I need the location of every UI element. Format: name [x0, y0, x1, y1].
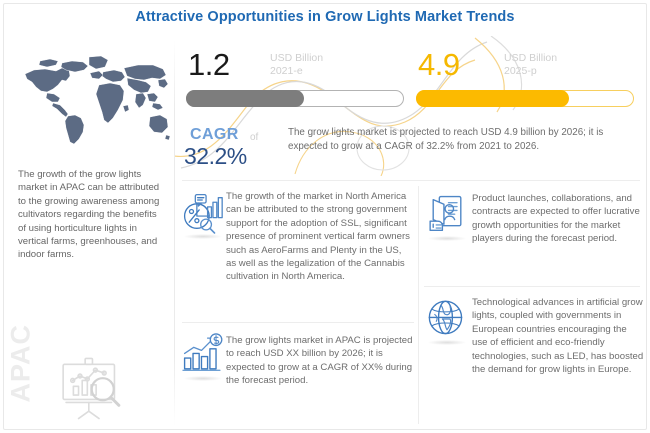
world-map-icon	[10, 48, 170, 152]
stat-progress-track	[416, 90, 634, 107]
divider-vertical-middle	[418, 186, 419, 424]
stat-unit-line1: USD Billion	[270, 52, 323, 65]
bar-chart-growth-dollar-icon	[180, 332, 226, 378]
stat-unit: USD Billion 2021-e	[270, 52, 323, 77]
stat-base-year: 1.2 USD Billion 2021-e	[182, 46, 408, 118]
stat-unit: USD Billion 2025-p	[504, 52, 557, 77]
presentation-chart-magnifier-icon	[54, 354, 128, 420]
stat-value: 4.9	[418, 48, 460, 82]
insight-text: Product launches, collaborations, and co…	[472, 192, 642, 246]
stat-progress-fill	[186, 90, 304, 107]
stat-progress-track	[186, 90, 404, 107]
insight-text: The grow lights market in APAC is projec…	[226, 334, 414, 388]
stat-unit-line1: USD Billion	[504, 52, 557, 65]
globe-europe-icon	[424, 296, 470, 342]
icon-shadow	[428, 340, 466, 345]
stat-forecast-year: 4.9 USD Billion 2025-p	[412, 46, 638, 118]
divider-horizontal-top	[182, 180, 640, 181]
divider-horizontal-right-mid	[424, 286, 640, 287]
cagr-block: CAGR of 32.2%	[182, 126, 294, 174]
insight-text: The growth of the market in North Americ…	[226, 190, 414, 284]
cagr-value: 32.2%	[184, 143, 247, 170]
stat-unit-line2: 2021-e	[270, 65, 323, 78]
contract-handshake-document-icon	[424, 192, 470, 238]
cagr-label: CAGR	[190, 126, 239, 144]
icon-shadow	[184, 234, 222, 239]
cagr-of-label: of	[250, 132, 258, 143]
stat-progress-fill	[416, 90, 569, 107]
infographic-canvas: Attractive Opportunities in Grow Lights …	[0, 0, 650, 433]
icon-shadow	[428, 236, 466, 241]
divider-horizontal-left-mid	[182, 322, 414, 323]
left-panel-body-text: The growth of the grow lights market in …	[18, 168, 166, 262]
icon-shadow	[184, 376, 222, 381]
apac-watermark: APAC	[6, 341, 37, 403]
stat-unit-line2: 2025-p	[504, 65, 557, 78]
left-panel: The growth of the grow lights market in …	[6, 36, 174, 428]
headline-summary-text: The grow lights market is projected to r…	[288, 126, 640, 154]
page-title: Attractive Opportunities in Grow Lights …	[0, 9, 650, 25]
insight-text: Technological advances in artificial gro…	[472, 296, 644, 376]
stat-value: 1.2	[188, 48, 230, 82]
left-divider	[174, 40, 175, 426]
pie-chart-percent-search-icon	[180, 190, 226, 236]
